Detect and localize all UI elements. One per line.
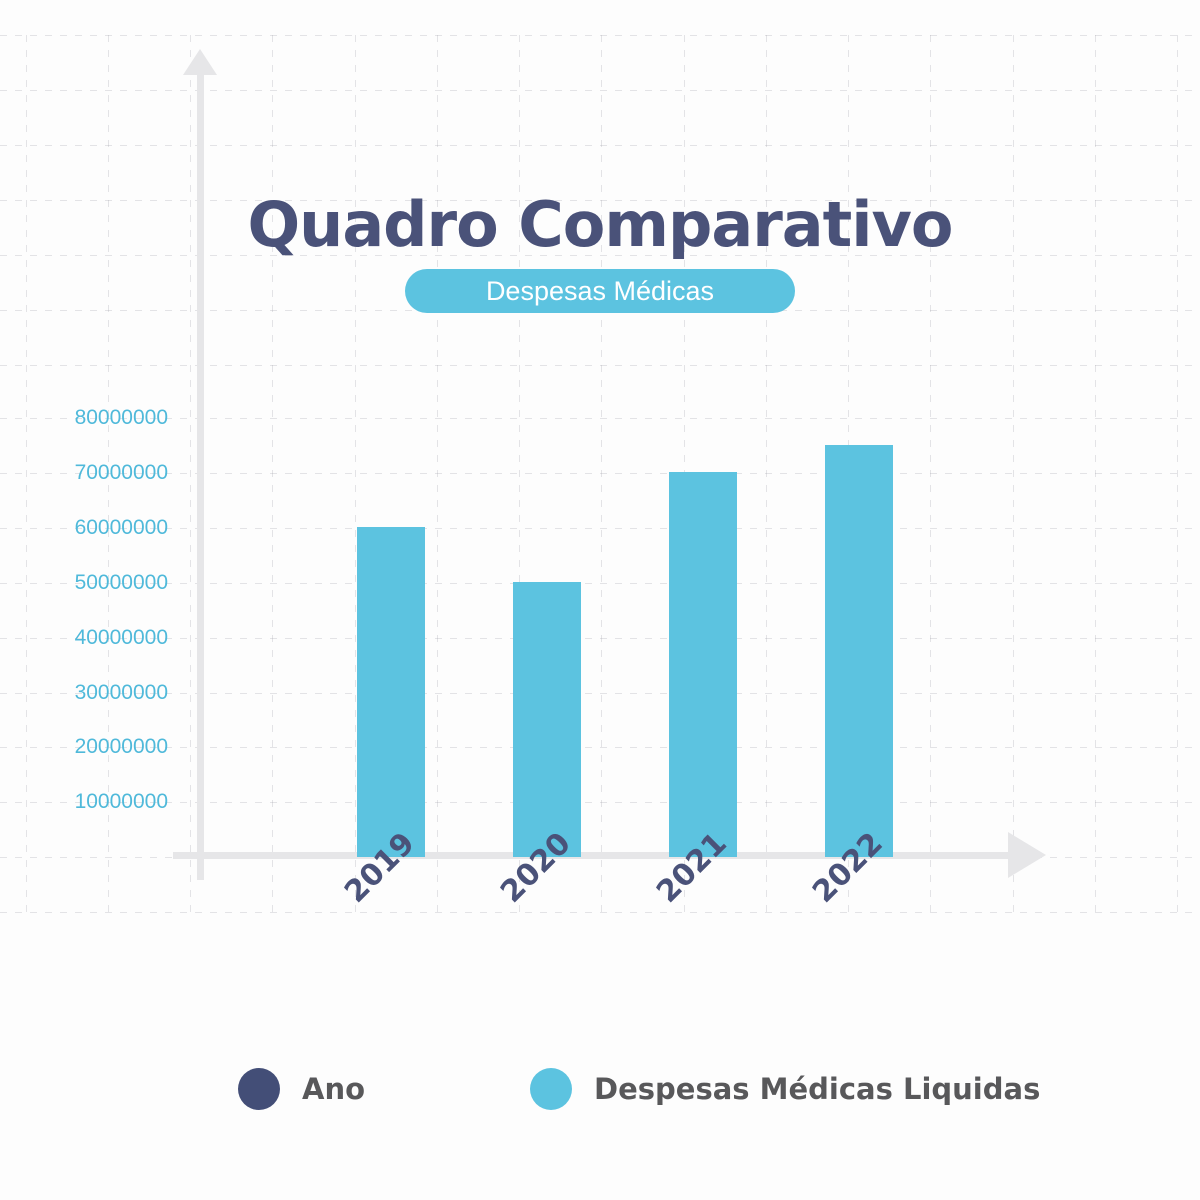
chart-legend: Ano Despesas Médicas Liquidas — [238, 1068, 1040, 1110]
page-title: Quadro Comparativo — [0, 188, 1200, 261]
y-axis-tick-label: 60000000 — [75, 516, 168, 540]
y-axis-tick-label: 40000000 — [75, 626, 168, 650]
y-axis-tick-label: 80000000 — [75, 406, 168, 430]
y-axis-tick-label: 20000000 — [75, 735, 168, 759]
legend-item-ano[interactable]: Ano — [238, 1068, 365, 1110]
y-axis-line — [197, 72, 204, 880]
legend-label-ano: Ano — [302, 1072, 365, 1106]
arrow-right-icon — [1008, 832, 1046, 878]
arrow-up-icon — [183, 49, 217, 75]
background-grid — [0, 35, 1200, 920]
bar-2022[interactable] — [825, 445, 893, 858]
y-axis-tick-label: 10000000 — [75, 790, 168, 814]
bar-2021[interactable] — [669, 472, 737, 857]
legend-swatch-circle-icon — [530, 1068, 572, 1110]
legend-item-despesas[interactable]: Despesas Médicas Liquidas — [530, 1068, 1040, 1110]
subtitle-badge: Despesas Médicas — [405, 269, 795, 313]
y-axis-tick-label: 30000000 — [75, 681, 168, 705]
bar-2020[interactable] — [513, 582, 581, 857]
chart-canvas: Quadro Comparativo Despesas Médicas 8000… — [0, 0, 1200, 1200]
legend-label-despesas: Despesas Médicas Liquidas — [594, 1072, 1040, 1106]
bar-2019[interactable] — [357, 527, 425, 857]
y-axis-tick-label: 70000000 — [75, 461, 168, 485]
legend-swatch-circle-icon — [238, 1068, 280, 1110]
y-axis-tick-label: 50000000 — [75, 571, 168, 595]
